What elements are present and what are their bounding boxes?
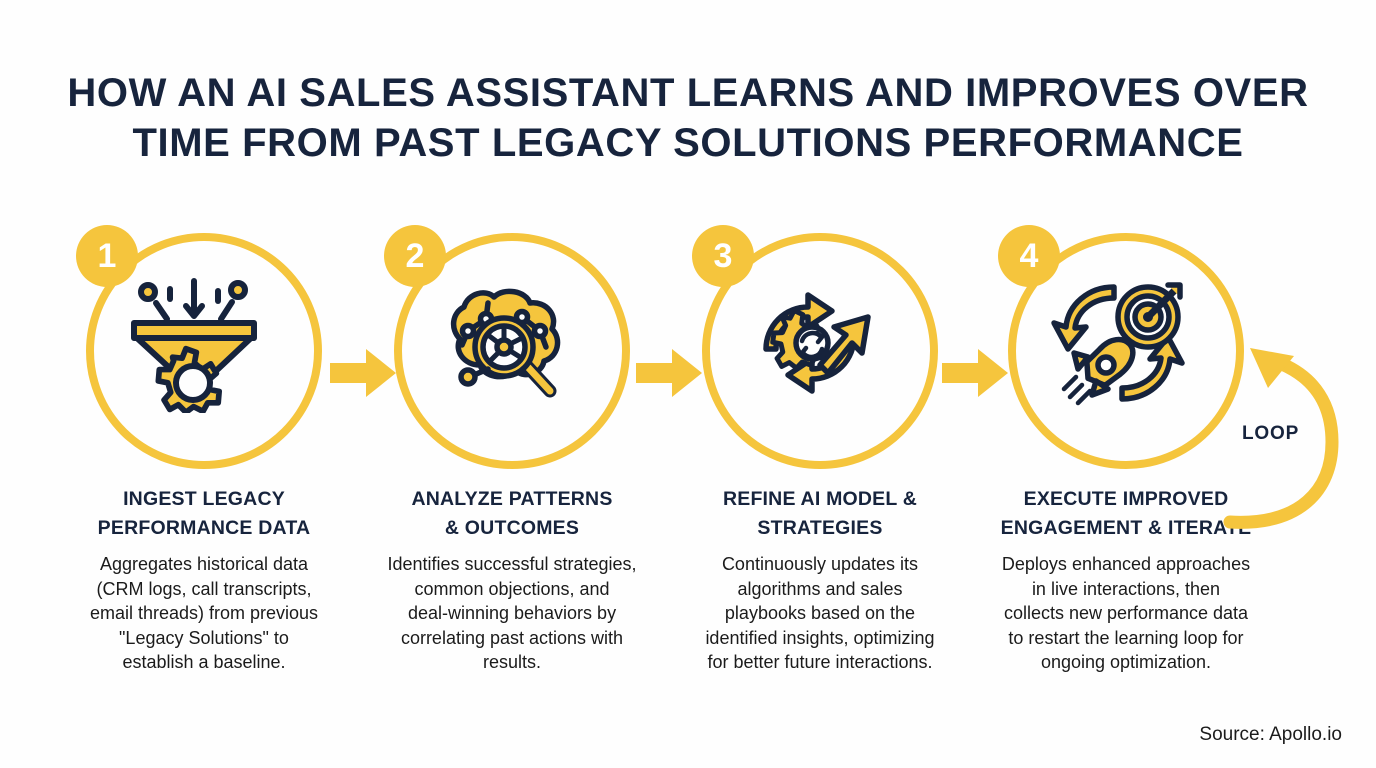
step-3-heading-line-2: STRATEGIES (660, 514, 980, 543)
step-2-body-line-4: correlating past actions with (352, 626, 672, 651)
step-4-body-line-1: Deploys enhanced approaches (966, 552, 1286, 577)
step-4-body-line-3: collects new performance data (966, 601, 1286, 626)
step-4-body-line-4: to restart the learning loop for (966, 626, 1286, 651)
right-arrow-icon (330, 347, 396, 399)
step-3-body-line-1: Continuously updates its (660, 552, 980, 577)
gear-refresh-growth-icon (742, 273, 882, 413)
step-1-circle-wrap: 1 (44, 225, 364, 475)
step-1: 1 (44, 225, 364, 675)
step-1-heading-line-2: PERFORMANCE DATA (44, 514, 364, 543)
step-2-heading-line-2: & OUTCOMES (352, 514, 672, 543)
right-arrow-icon (636, 347, 702, 399)
step-1-body-line-4: "Legacy Solutions" to (44, 626, 364, 651)
step-2: 2 (352, 225, 672, 675)
step-2-body-line-2: common objections, and (352, 577, 672, 602)
step-3-circle-wrap: 3 (660, 225, 980, 475)
page-title: HOW AN AI SALES ASSISTANT LEARNS AND IMP… (0, 68, 1376, 168)
step-3: 3 (660, 225, 980, 675)
step-3-body-line-5: for better future interactions. (660, 650, 980, 675)
loop-label: LOOP (1242, 423, 1299, 445)
step-3-body-line-4: identified insights, optimizing (660, 626, 980, 651)
title-line-1: HOW AN AI SALES ASSISTANT LEARNS AND IMP… (0, 68, 1376, 118)
step-1-body-line-3: email threads) from previous (44, 601, 364, 626)
step-3-heading-line-1: REFINE AI MODEL & (660, 485, 980, 514)
title-line-2: TIME FROM PAST LEGACY SOLUTIONS PERFORMA… (0, 118, 1376, 168)
funnel-gear-icon (126, 273, 266, 413)
step-4-body-line-2: in live interactions, then (966, 577, 1286, 602)
step-3-body-line-2: algorithms and sales (660, 577, 980, 602)
step-1-body-line-5: establish a baseline. (44, 650, 364, 675)
right-arrow-icon (942, 347, 1008, 399)
brain-magnifier-icon (434, 273, 574, 413)
step-2-heading: ANALYZE PATTERNS & OUTCOMES (352, 485, 672, 543)
step-2-circle-wrap: 2 (352, 225, 672, 475)
step-2-body-line-1: Identifies successful strategies, (352, 552, 672, 577)
steps-row: 1 (0, 225, 1376, 705)
step-2-number-badge: 2 (384, 225, 446, 287)
step-4-body-line-5: ongoing optimization. (966, 650, 1286, 675)
infographic-canvas: HOW AN AI SALES ASSISTANT LEARNS AND IMP… (0, 0, 1376, 768)
step-1-heading-line-1: INGEST LEGACY (44, 485, 364, 514)
step-1-number-badge: 1 (76, 225, 138, 287)
step-3-body: Continuously updates its algorithms and … (660, 552, 980, 675)
step-1-body-line-2: (CRM logs, call transcripts, (44, 577, 364, 602)
step-1-body-line-1: Aggregates historical data (44, 552, 364, 577)
step-2-body-line-5: results. (352, 650, 672, 675)
step-1-body: Aggregates historical data (CRM logs, ca… (44, 552, 364, 675)
step-3-heading: REFINE AI MODEL & STRATEGIES (660, 485, 980, 543)
source-attribution: Source: Apollo.io (1199, 724, 1342, 746)
step-2-heading-line-1: ANALYZE PATTERNS (352, 485, 672, 514)
step-3-number-badge: 3 (692, 225, 754, 287)
step-2-body: Identifies successful strategies, common… (352, 552, 672, 675)
step-1-heading: INGEST LEGACY PERFORMANCE DATA (44, 485, 364, 543)
step-3-body-line-3: playbooks based on the (660, 601, 980, 626)
step-2-body-line-3: deal-winning behaviors by (352, 601, 672, 626)
step-4-number-badge: 4 (998, 225, 1060, 287)
rocket-target-cycle-icon (1048, 273, 1188, 413)
step-4-body: Deploys enhanced approaches in live inte… (966, 552, 1286, 675)
